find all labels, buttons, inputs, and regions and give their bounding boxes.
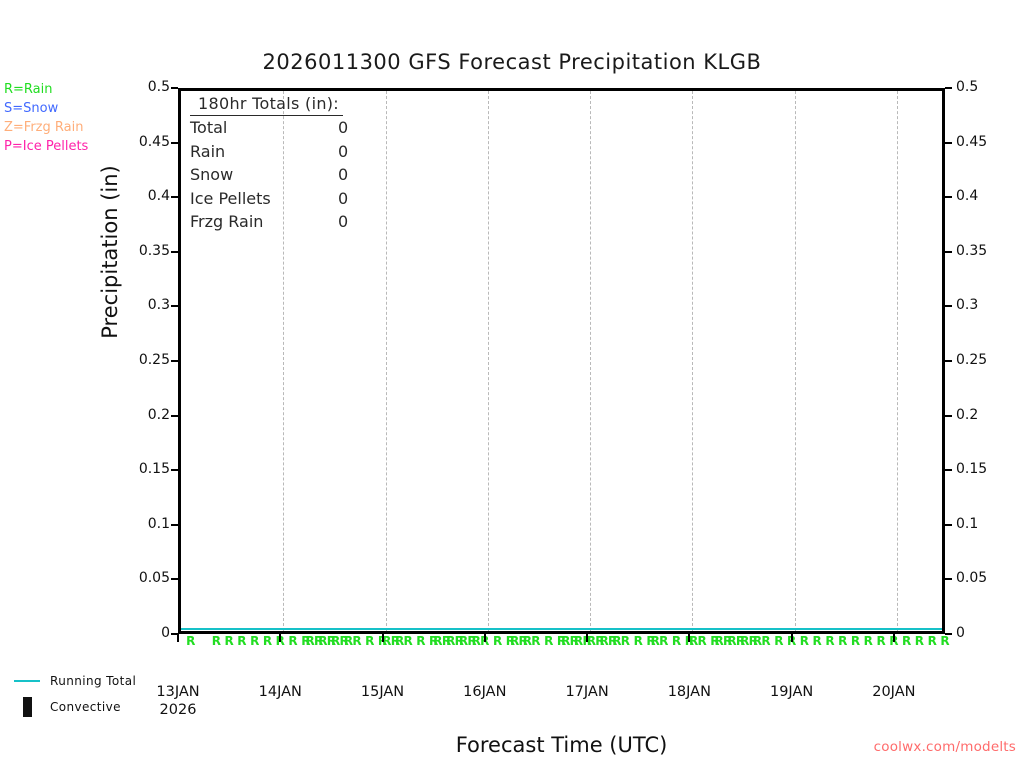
y-tick-mark-left bbox=[171, 469, 178, 471]
precip-type-marker: R bbox=[672, 634, 681, 648]
precip-type-marker: R bbox=[876, 634, 885, 648]
precip-type-marker: R bbox=[416, 634, 425, 648]
y-tick-mark-left bbox=[171, 415, 178, 417]
precip-type-marker: R bbox=[186, 634, 195, 648]
x-tick-label-16JAN: 16JAN bbox=[463, 684, 506, 700]
totals-row-value: 0 bbox=[338, 188, 348, 211]
y-tick-label-right: 0.3 bbox=[956, 297, 978, 313]
totals-row-name: Rain bbox=[190, 141, 338, 164]
totals-row: Snow0 bbox=[190, 164, 440, 187]
x-tick-label-text: 18JAN bbox=[668, 684, 711, 700]
x-tick-label-13JAN: 13JAN2026 bbox=[156, 684, 199, 718]
precip-type-marker: R bbox=[864, 634, 873, 648]
totals-row-name: Total bbox=[190, 117, 338, 140]
precip-type-marker: R bbox=[928, 634, 937, 648]
y-tick-label-right: 0.1 bbox=[956, 516, 978, 532]
y-tick-label-left: 0.1 bbox=[148, 516, 170, 532]
precip-type-marker: R bbox=[800, 634, 809, 648]
x-tick-label-20JAN: 20JAN bbox=[872, 684, 915, 700]
y-tick-label-right: 0.5 bbox=[956, 79, 978, 95]
y-tick-mark-left bbox=[171, 142, 178, 144]
y-tick-mark-left bbox=[171, 251, 178, 253]
y-tick-label-left: 0.05 bbox=[139, 570, 170, 586]
x-tick-label-18JAN: 18JAN bbox=[668, 684, 711, 700]
convective-swatch-icon bbox=[10, 697, 44, 717]
y-tick-label-right: 0.35 bbox=[956, 243, 987, 259]
y-axis-labels-right: 00.050.10.150.20.250.30.350.40.450.5 bbox=[956, 0, 1016, 768]
precip-type-marker: R bbox=[263, 634, 272, 648]
x-tick-label-text: 16JAN bbox=[463, 684, 506, 700]
totals-row-name: Snow bbox=[190, 164, 338, 187]
y-tick-label-left: 0.15 bbox=[139, 461, 170, 477]
y-tick-mark-left bbox=[171, 633, 178, 635]
x-tick-label-14JAN: 14JAN bbox=[259, 684, 302, 700]
y-tick-label-left: 0 bbox=[161, 625, 170, 641]
precip-type-marker: R bbox=[851, 634, 860, 648]
bottom-legend: Running TotalConvective bbox=[10, 668, 136, 720]
precip-type-marker: R bbox=[365, 634, 374, 648]
y-tick-label-left: 0.4 bbox=[148, 188, 170, 204]
y-tick-mark-right bbox=[945, 469, 952, 471]
y-tick-mark-right bbox=[945, 524, 952, 526]
legend-label: Running Total bbox=[50, 674, 136, 688]
y-tick-label-right: 0.4 bbox=[956, 188, 978, 204]
x-tick-label-text: 17JAN bbox=[565, 684, 608, 700]
precip-type-marker: R bbox=[915, 634, 924, 648]
totals-heading: 180hr Totals (in): bbox=[190, 94, 343, 116]
y-tick-label-right: 0.05 bbox=[956, 570, 987, 586]
gridline-17JAN bbox=[590, 91, 592, 631]
x-tick-mark bbox=[484, 634, 486, 642]
legend-row-line: Running Total bbox=[10, 668, 136, 694]
y-tick-mark-right bbox=[945, 360, 952, 362]
x-tick-label-15JAN: 15JAN bbox=[361, 684, 404, 700]
precip-type-marker: R bbox=[697, 634, 706, 648]
totals-row-value: 0 bbox=[338, 141, 348, 164]
x-tick-mark bbox=[893, 634, 895, 642]
y-tick-mark-right bbox=[945, 87, 952, 89]
y-tick-mark-right bbox=[945, 305, 952, 307]
totals-row: Total0 bbox=[190, 117, 440, 140]
precip-type-legend-item-0: R=Rain bbox=[4, 80, 88, 99]
y-tick-mark-right bbox=[945, 415, 952, 417]
x-tick-label-text: 14JAN bbox=[259, 684, 302, 700]
swatch-shape bbox=[14, 680, 40, 682]
precip-type-marker: R bbox=[838, 634, 847, 648]
y-tick-mark-left bbox=[171, 87, 178, 89]
x-tick-mark bbox=[177, 634, 179, 642]
precip-type-marker: R bbox=[352, 634, 361, 648]
y-tick-mark-right bbox=[945, 578, 952, 580]
legend-row-bar: Convective bbox=[10, 694, 136, 720]
y-tick-mark-left bbox=[171, 578, 178, 580]
y-tick-mark-left bbox=[171, 196, 178, 198]
precip-type-marker: R bbox=[940, 634, 949, 648]
gridline-20JAN bbox=[897, 91, 899, 631]
totals-row-value: 0 bbox=[338, 117, 348, 140]
x-tick-mark bbox=[382, 634, 384, 642]
precip-type-marker: R bbox=[531, 634, 540, 648]
legend-label: Convective bbox=[50, 700, 121, 714]
y-tick-mark-left bbox=[171, 524, 178, 526]
precip-type-marker-row: RRRRRRRRRRRRRRRRRRRRRRRRRRRRRRRRRRRRRRRR… bbox=[178, 634, 945, 652]
running-total-swatch-icon bbox=[10, 680, 44, 682]
y-tick-label-left: 0.45 bbox=[139, 134, 170, 150]
x-tick-mark bbox=[688, 634, 690, 642]
x-tick-label-text: 15JAN bbox=[361, 684, 404, 700]
swatch-shape bbox=[23, 697, 32, 717]
precip-type-marker: R bbox=[237, 634, 246, 648]
totals-row: Frzg Rain0 bbox=[190, 211, 440, 234]
y-tick-label-left: 0.3 bbox=[148, 297, 170, 313]
y-tick-label-left: 0.5 bbox=[148, 79, 170, 95]
totals-row: Ice Pellets0 bbox=[190, 188, 440, 211]
y-tick-label-right: 0 bbox=[956, 625, 965, 641]
x-tick-label-text: 20JAN bbox=[872, 684, 915, 700]
precip-type-marker: R bbox=[774, 634, 783, 648]
precip-type-marker: R bbox=[225, 634, 234, 648]
y-tick-mark-left bbox=[171, 305, 178, 307]
x-axis-labels: 13JAN202614JAN15JAN16JAN17JAN18JAN19JAN2… bbox=[0, 684, 1024, 724]
precip-type-marker: R bbox=[212, 634, 221, 648]
y-tick-mark-right bbox=[945, 196, 952, 198]
y-tick-mark-right bbox=[945, 633, 952, 635]
gridline-18JAN bbox=[692, 91, 694, 631]
precip-type-legend: R=RainS=SnowZ=Frzg RainP=Ice Pellets bbox=[4, 80, 88, 156]
gridline-19JAN bbox=[795, 91, 797, 631]
precip-type-marker: R bbox=[493, 634, 502, 648]
precip-type-marker: R bbox=[825, 634, 834, 648]
precip-type-marker: R bbox=[250, 634, 259, 648]
totals-row-value: 0 bbox=[338, 164, 348, 187]
y-axis-title: Precipitation (in) bbox=[98, 137, 122, 367]
precip-type-marker: R bbox=[902, 634, 911, 648]
y-tick-label-right: 0.25 bbox=[956, 352, 987, 368]
precip-type-marker: R bbox=[659, 634, 668, 648]
precip-type-marker: R bbox=[621, 634, 630, 648]
totals-row-name: Ice Pellets bbox=[190, 188, 338, 211]
precip-type-legend-item-3: P=Ice Pellets bbox=[4, 137, 88, 156]
totals-row-name: Frzg Rain bbox=[190, 211, 338, 234]
x-axis-title: Forecast Time (UTC) bbox=[178, 733, 945, 757]
x-tick-mark bbox=[279, 634, 281, 642]
watermark: coolwx.com/modelts bbox=[874, 739, 1016, 755]
totals-box: 180hr Totals (in): Total0Rain0Snow0Ice P… bbox=[190, 94, 440, 234]
precip-type-marker: R bbox=[288, 634, 297, 648]
x-tick-label-text: 19JAN bbox=[770, 684, 813, 700]
x-tick-mark bbox=[586, 634, 588, 642]
totals-rows: Total0Rain0Snow0Ice Pellets0Frzg Rain0 bbox=[190, 117, 440, 234]
y-tick-mark-right bbox=[945, 251, 952, 253]
running-total-line bbox=[181, 628, 942, 630]
precip-type-marker: R bbox=[813, 634, 822, 648]
y-tick-label-right: 0.2 bbox=[956, 407, 978, 423]
y-tick-label-left: 0.25 bbox=[139, 352, 170, 368]
x-tick-mark bbox=[791, 634, 793, 642]
precip-type-marker: R bbox=[634, 634, 643, 648]
totals-row-value: 0 bbox=[338, 211, 348, 234]
x-tick-year-label: 2026 bbox=[156, 702, 199, 718]
y-tick-mark-left bbox=[171, 360, 178, 362]
precip-type-marker: R bbox=[761, 634, 770, 648]
gridline-16JAN bbox=[488, 91, 490, 631]
totals-row: Rain0 bbox=[190, 141, 440, 164]
y-tick-mark-right bbox=[945, 142, 952, 144]
x-tick-label-17JAN: 17JAN bbox=[565, 684, 608, 700]
precip-type-marker: R bbox=[403, 634, 412, 648]
precip-type-legend-item-2: Z=Frzg Rain bbox=[4, 118, 88, 137]
y-tick-label-left: 0.35 bbox=[139, 243, 170, 259]
precip-type-legend-item-1: S=Snow bbox=[4, 99, 88, 118]
precip-type-marker: R bbox=[544, 634, 553, 648]
y-tick-label-right: 0.45 bbox=[956, 134, 987, 150]
x-tick-label-19JAN: 19JAN bbox=[770, 684, 813, 700]
y-axis-labels-left: 00.050.10.150.20.250.30.350.40.450.5 bbox=[118, 0, 170, 768]
x-tick-label-text: 13JAN bbox=[156, 684, 199, 700]
y-tick-label-left: 0.2 bbox=[148, 407, 170, 423]
y-tick-label-right: 0.15 bbox=[956, 461, 987, 477]
